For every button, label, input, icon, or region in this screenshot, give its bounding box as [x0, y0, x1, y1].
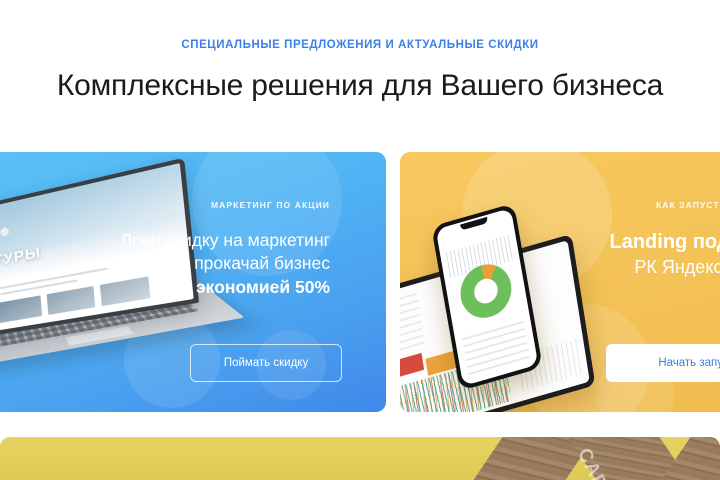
promo-card-copy: МАРКЕТИНГ ПО АКЦИИ Лови скидку на маркет… — [50, 200, 330, 299]
start-launch-button[interactable]: Начать запуск — [606, 344, 720, 382]
promo-card-eyebrow: МАРКЕТИНГ ПО АКЦИИ — [50, 200, 330, 210]
promo-card-third-peek[interactable]: CARPET — [0, 437, 720, 480]
promo-card-marketing-discount[interactable]: ❅ ТУРЫ МАРКЕТИНГ ПО АКЦИИ Лови скидку на… — [0, 152, 386, 412]
promo-card-copy: КАК ЗАПУСТИТЬ БИЗНЕС Landing под ключ РК… — [486, 200, 720, 280]
promo-cards-row: ❅ ТУРЫ МАРКЕТИНГ ПО АКЦИИ Лови скидку на… — [0, 152, 720, 414]
page-header: СПЕЦИАЛЬНЫЕ ПРЕДЛОЖЕНИЯ И АКТУАЛЬНЫЕ СКИ… — [0, 0, 720, 140]
tablet-sidebar-rows — [400, 292, 425, 359]
promo-card-headline: Landing под ключ РК Яндекс.Директ — [486, 229, 720, 280]
promo-card-headline-line2: — прокачай бизнес — [50, 252, 330, 275]
laptop-screen-thumb — [0, 295, 42, 323]
header-eyebrow: СПЕЦИАЛЬНЫЕ ПРЕДЛОЖЕНИЯ И АКТУАЛЬНЫЕ СКИ… — [0, 39, 720, 51]
catch-discount-button[interactable]: Поймать скидку — [190, 344, 342, 382]
promo-card-headline-line3: с экономией 50% — [50, 276, 330, 299]
promo-card-headline-line1: Лови скидку на маркетинг — [50, 229, 330, 252]
promo-card-landing-turnkey[interactable]: КАК ЗАПУСТИТЬ БИЗНЕС Landing под ключ РК… — [400, 152, 720, 412]
promo-card-headline-line2: РК Яндекс.Директ — [486, 256, 720, 280]
phone-notch — [460, 217, 488, 231]
page-title: Комплексные решения для Вашего бизнеса — [0, 69, 720, 103]
promo-card-eyebrow: КАК ЗАПУСТИТЬ БИЗНЕС — [486, 200, 720, 210]
promo-card-headline-line1: Landing под ключ — [486, 229, 720, 256]
phone-list-rows — [461, 316, 530, 374]
promo-card-headline: Лови скидку на маркетинг — прокачай бизн… — [50, 229, 330, 299]
